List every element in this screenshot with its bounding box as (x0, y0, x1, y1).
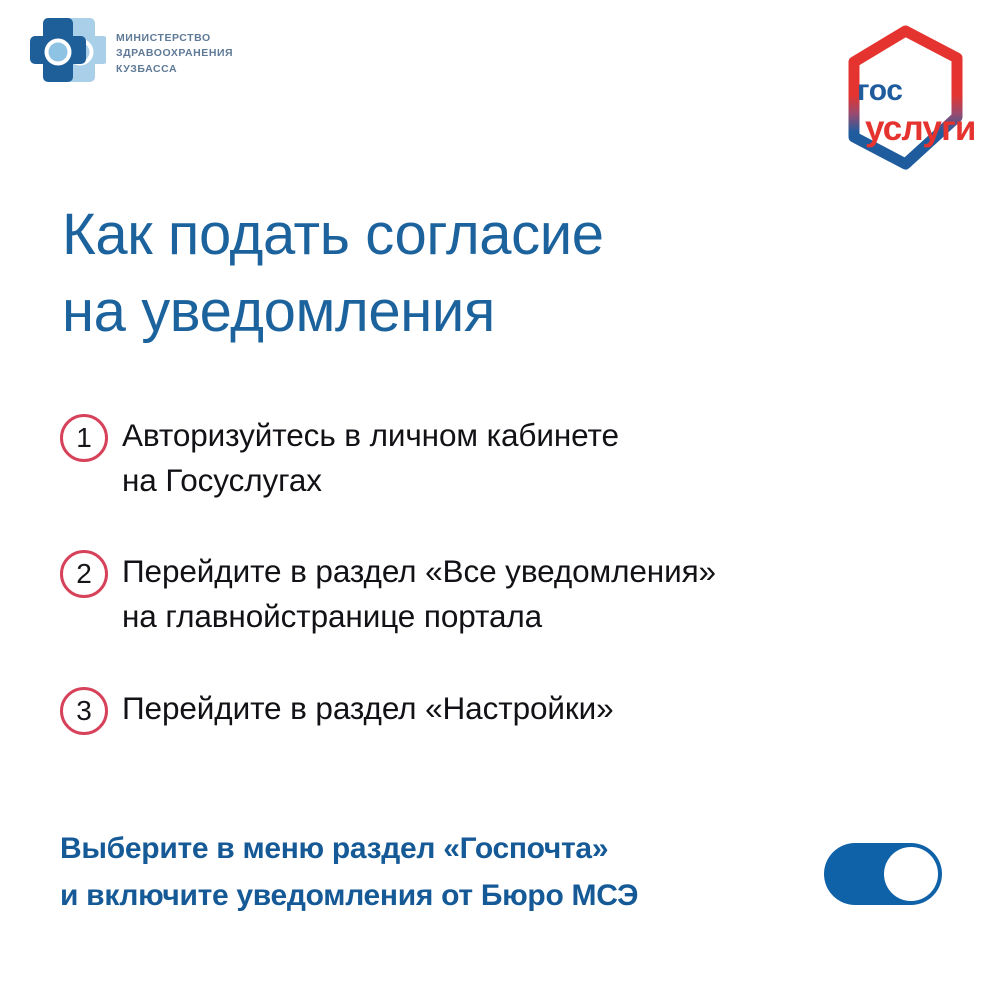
footer-line-1: Выберите в меню раздел «Госпочта» (60, 826, 638, 873)
double-medical-cross-icon (30, 16, 106, 88)
notifications-toggle[interactable] (824, 843, 942, 905)
page-title-line-2: на уведомления (62, 273, 802, 350)
ministry-logo: МИНИСТЕРСТВО ЗДРАВООХРАНЕНИЯ КУЗБАССА (30, 16, 233, 88)
gosuslugi-hexagon-icon: гос услуги (833, 22, 978, 174)
footer-line-2: и включите уведомления от Бюро МСЭ (60, 873, 638, 920)
step-1-line-2: на Госуслугах (122, 458, 619, 503)
page-title-line-1: Как подать согласие (62, 196, 802, 273)
toggle-knob (884, 847, 938, 901)
step-text-1: Авторизуйтесь в личном кабинете на Госус… (122, 412, 619, 502)
infographic-poster: МИНИСТЕРСТВО ЗДРАВООХРАНЕНИЯ КУЗБАССА (0, 0, 1000, 1000)
step-2-line-2: на главнойстранице портала (122, 594, 716, 639)
step-1-line-1: Авторизуйтесь в личном кабинете (122, 413, 619, 458)
step-3-line-1: Перейдите в раздел «Настройки» (122, 686, 614, 731)
gosuslugi-logo: гос услуги (833, 22, 978, 174)
step-item-2: 2 Перейдите в раздел «Все уведомления» н… (60, 548, 960, 638)
steps-list: 1 Авторизуйтесь в личном кабинете на Гос… (60, 412, 960, 735)
ministry-line-1: МИНИСТЕРСТВО (116, 32, 233, 45)
ministry-logo-text: МИНИСТЕРСТВО ЗДРАВООХРАНЕНИЯ КУЗБАССА (116, 28, 233, 75)
header: МИНИСТЕРСТВО ЗДРАВООХРАНЕНИЯ КУЗБАССА (0, 0, 1000, 190)
step-item-3: 3 Перейдите в раздел «Настройки» (60, 685, 960, 735)
gosuslugi-word-bottom: услуги (865, 109, 976, 148)
gosuslugi-word-top: гос (857, 74, 903, 107)
step-number-badge-2: 2 (60, 550, 108, 598)
step-item-1: 1 Авторизуйтесь в личном кабинете на Гос… (60, 412, 960, 502)
page-title: Как подать согласие на уведомления (62, 196, 802, 350)
step-text-3: Перейдите в раздел «Настройки» (122, 685, 614, 731)
footer: Выберите в меню раздел «Госпочта» и вклю… (60, 826, 960, 919)
ministry-line-2: ЗДРАВООХРАНЕНИЯ (116, 47, 233, 60)
step-text-2: Перейдите в раздел «Все уведомления» на … (122, 548, 716, 638)
step-2-line-1: Перейдите в раздел «Все уведомления» (122, 549, 716, 594)
footer-text: Выберите в меню раздел «Госпочта» и вклю… (60, 826, 638, 919)
ministry-line-3: КУЗБАССА (116, 63, 233, 76)
step-number-badge-1: 1 (60, 414, 108, 462)
step-number-badge-3: 3 (60, 687, 108, 735)
